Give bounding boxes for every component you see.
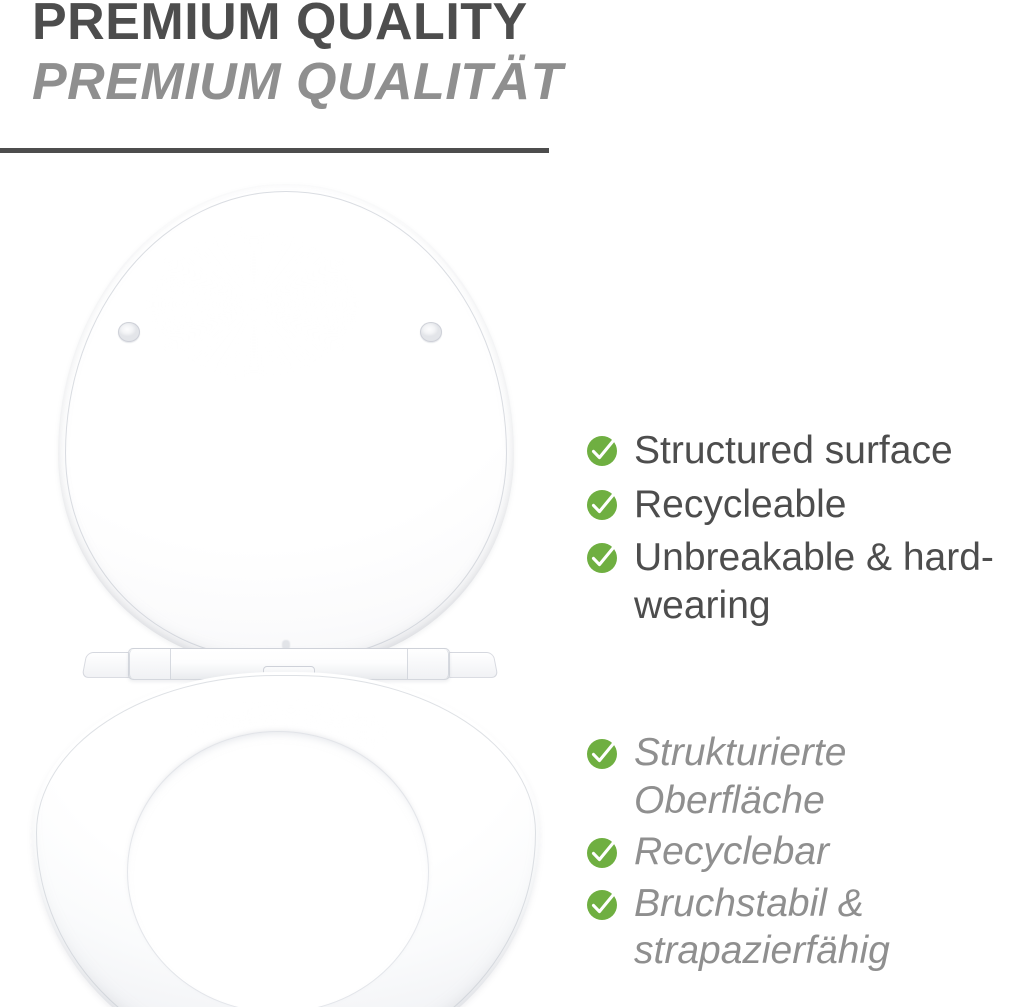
feature-label: Unbreakable & hard-wearing: [634, 534, 1024, 629]
feature-list-german: Strukturierte Oberfläche Recyclebar Bruc…: [586, 729, 986, 979]
list-item: Bruchstabil & strapazierfähig: [586, 880, 986, 975]
lid-bumper-right: [420, 322, 442, 342]
list-item: Unbreakable & hard-wearing: [586, 534, 1024, 629]
list-item: Recyclebar: [586, 828, 986, 876]
check-circle-icon: [586, 542, 618, 574]
list-item: Strukturierte Oberfläche: [586, 729, 986, 824]
feature-list-english: Structured surface Recycleable Unbreakab…: [586, 427, 1024, 635]
hinge-cap-right: [407, 649, 449, 679]
seat-opening: [128, 732, 428, 1007]
feature-label: Strukturierte Oberfläche: [634, 729, 986, 824]
page-title-german: PREMIUM QUALITÄT: [32, 54, 563, 111]
page-title-english: PREMIUM QUALITY: [32, 0, 528, 51]
feature-label: Bruchstabil & strapazierfähig: [634, 880, 986, 975]
product-feature-graphic: PREMIUM QUALITY PREMIUM QUALITÄT: [0, 0, 1024, 1007]
product-image-toilet-seat: [10, 170, 570, 1007]
hinge-arm-right: [443, 652, 498, 678]
check-circle-icon: [586, 738, 618, 770]
seat-ring: [32, 672, 540, 1007]
lid-bumper-left: [118, 322, 140, 342]
list-item: Recycleable: [586, 481, 1024, 529]
feature-label: Recycleable: [634, 481, 846, 529]
hinge-cap-left: [129, 649, 171, 679]
check-circle-icon: [586, 489, 618, 521]
toilet-lid: [58, 184, 514, 666]
lid-highlight: [113, 208, 396, 401]
check-circle-icon: [586, 837, 618, 869]
check-circle-icon: [586, 889, 618, 921]
list-item: Structured surface: [586, 427, 1024, 475]
feature-label: Structured surface: [634, 427, 953, 475]
check-circle-icon: [586, 435, 618, 467]
feature-label: Recyclebar: [634, 828, 829, 876]
header-divider: [0, 148, 549, 153]
